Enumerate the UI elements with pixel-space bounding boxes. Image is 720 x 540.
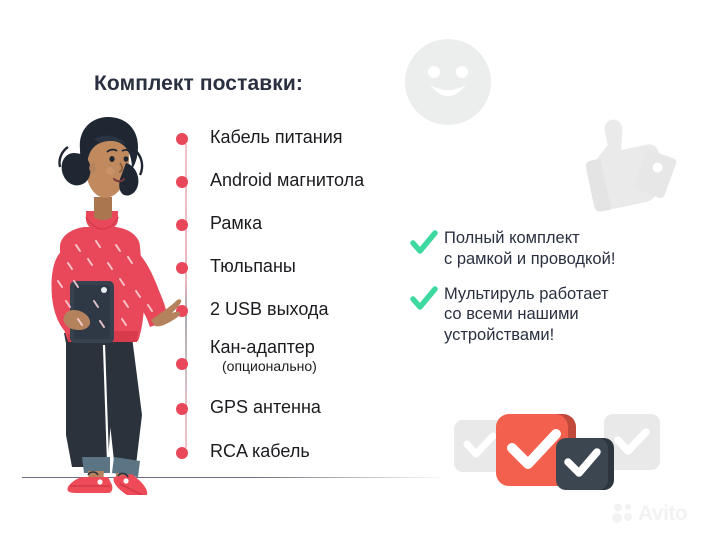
smiley-face-icon <box>398 32 498 132</box>
list-item-label: Android магнитола <box>210 171 364 190</box>
benefit-line-2: с рамкой и проводкой! <box>444 249 615 270</box>
avito-watermark: Avito <box>612 500 708 526</box>
list-item-label-note: (опционально) <box>222 359 317 374</box>
list-item-label: Кан-адаптер (опционально) <box>210 338 317 374</box>
list-item-label: 2 USB выхода <box>210 300 328 319</box>
benefit-line-1: Полный комплект <box>444 228 615 249</box>
benefit-text: Полный комплект с рамкой и проводкой! <box>444 228 615 270</box>
list-item: Кабель питания <box>176 128 343 147</box>
check-icon <box>410 286 438 312</box>
avito-logo-icon <box>612 502 634 524</box>
benefit-line-1: Мультируль работает <box>444 284 609 305</box>
list-item-label: RCA кабель <box>210 442 310 461</box>
benefit-item: Полный комплект с рамкой и проводкой! <box>410 228 710 270</box>
list-item-label: Рамка <box>210 214 262 233</box>
woman-pointing-illustration <box>8 105 188 495</box>
list-item-label: Кабель питания <box>210 128 343 147</box>
benefit-item: Мультируль работает со всеми нашими устр… <box>410 284 710 346</box>
list-item: Кан-адаптер (опционально) <box>176 338 317 374</box>
promo-image: Комплект поставки: Кабель питания Androi… <box>0 0 720 540</box>
list-item: 2 USB выхода <box>176 300 328 319</box>
list-item: Рамка <box>176 214 262 233</box>
list-item: RCA кабель <box>176 442 310 461</box>
page-title: Комплект поставки: <box>94 72 303 96</box>
checkbox-cluster-icon <box>452 392 662 492</box>
benefit-line-3: устройствами! <box>444 325 609 346</box>
avito-brand-text: Avito <box>638 503 687 524</box>
list-item-label-main: Кан-адаптер <box>210 337 315 357</box>
list-item: Тюльпаны <box>176 257 296 276</box>
list-item-label: GPS антенна <box>210 398 321 417</box>
list-item: Android магнитола <box>176 171 364 190</box>
list-item: GPS антенна <box>176 398 321 417</box>
spec-list: Кабель питания Android магнитола Рамка Т… <box>176 128 436 468</box>
list-item-label: Тюльпаны <box>210 257 296 276</box>
check-icon <box>410 230 438 256</box>
benefit-line-2: со всеми нашими <box>444 304 609 325</box>
benefit-text: Мультируль работает со всеми нашими устр… <box>444 284 609 346</box>
thumbs-up-icon <box>568 112 678 216</box>
benefits-list: Полный комплект с рамкой и проводкой! Му… <box>410 228 710 360</box>
